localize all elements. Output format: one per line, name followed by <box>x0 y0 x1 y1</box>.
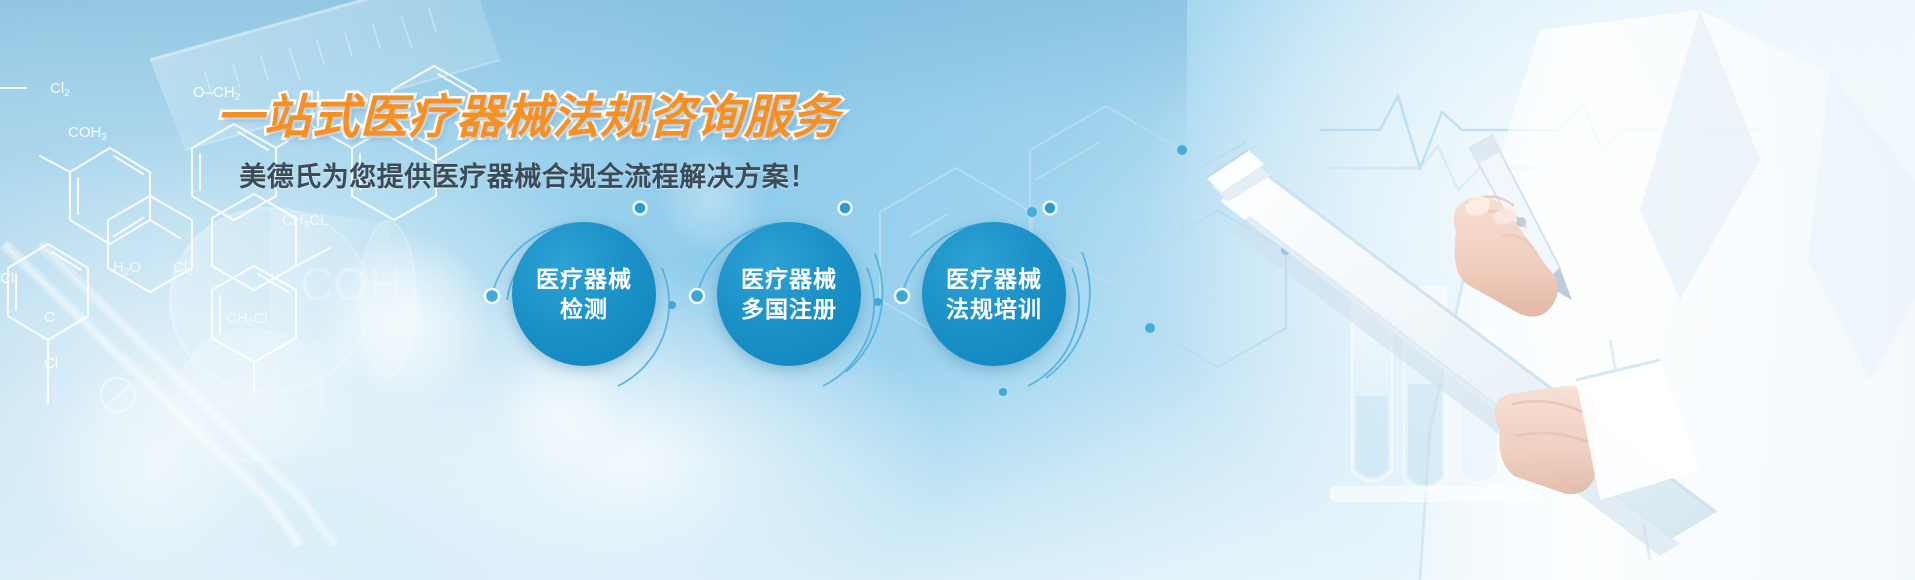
page-subtitle: 美德氏为您提供医疗器械合规全流程解决方案！ <box>239 155 817 194</box>
service-circle-group: 医疗器械 检测 医疗器械 多国注册 医疗器械 法规培训 <box>498 222 1098 372</box>
service-circle-training-line2: 法规培训 <box>946 294 1042 324</box>
page-title: 一站式医疗器械法规咨询服务 <box>216 92 840 141</box>
chem-label-cl-edge: Cl <box>0 270 14 287</box>
promo-banner: Cl2 COH3 O–CH2 CH3CL H2O Cl2 CH3Cl C Cl … <box>0 0 1915 580</box>
chem-label-cl: Cl <box>44 355 58 372</box>
chem-label-ch3cl-b: CH3Cl <box>226 310 267 329</box>
service-circle-training-line1: 医疗器械 <box>946 264 1042 294</box>
chem-label-c: C <box>44 309 55 326</box>
headline-container: 一站式医疗器械法规咨询服务 <box>0 92 1056 141</box>
service-circle-inspection-line1: 医疗器械 <box>536 264 632 294</box>
service-circle-inspection-line2: 检测 <box>560 294 608 324</box>
service-circle-registration[interactable]: 医疗器械 多国注册 <box>717 222 861 366</box>
service-circle-registration-line1: 医疗器械 <box>741 264 837 294</box>
service-circle-inspection[interactable]: 医疗器械 检测 <box>512 222 656 366</box>
service-circle-training[interactable]: 医疗器械 法规培训 <box>922 222 1066 366</box>
subheadline-container: 美德氏为您提供医疗器械合规全流程解决方案！ <box>0 155 1056 194</box>
service-circle-registration-line2: 多国注册 <box>741 294 837 324</box>
chem-label-h2o: H2O <box>113 259 141 278</box>
